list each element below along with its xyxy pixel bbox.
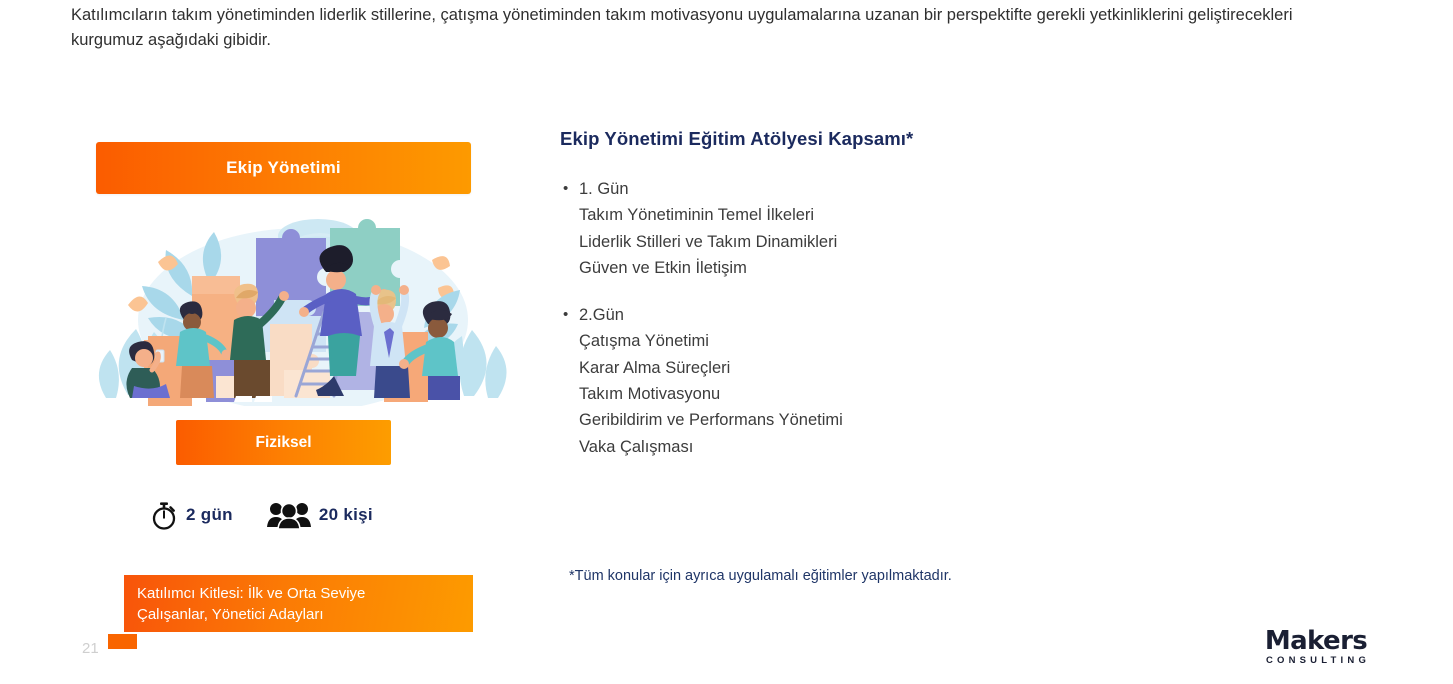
bullet-group-day2: • 2.Gün Çatışma Yönetimi Karar Alma Süre… [560, 302, 1260, 460]
bullet-marker: • [560, 302, 579, 460]
audience-line-1: Katılımcı Kitlesi: İlk ve Orta Seviye [137, 585, 365, 602]
bullet-item: Takım Yönetiminin Temel İlkeleri [579, 202, 1260, 228]
meta-duration-label: 2 gün [186, 505, 233, 525]
training-card: Ekip Yönetimi [85, 130, 515, 480]
logo-tagline-text: CONSULTING [1241, 655, 1391, 666]
bullet-item: Geribildirim ve Performans Yönetimi [579, 407, 1260, 433]
orange-corner-mark [108, 634, 137, 649]
card-title-label: Ekip Yönetimi [226, 158, 341, 178]
page-number: 21 [82, 640, 99, 657]
makers-consulting-logo: Makers CONSULTING [1241, 628, 1391, 666]
scope-section: Ekip Yönetimi Eğitim Atölyesi Kapsamı* •… [560, 128, 1260, 481]
scope-footnote: *Tüm konular için ayrıca uygulamalı eğit… [569, 568, 952, 584]
bullet-title: 1. Gün [579, 176, 1260, 202]
card-meta-row: 2 gün 20 kişi [150, 500, 373, 530]
people-group-icon [267, 501, 311, 529]
bullet-item: Liderlik Stilleri ve Takım Dinamikleri [579, 229, 1260, 255]
audience-box: Katılımcı Kitlesi: İlk ve Orta Seviye Ça… [124, 575, 473, 632]
scope-heading: Ekip Yönetimi Eğitim Atölyesi Kapsamı* [560, 128, 1260, 150]
bullet-marker: • [560, 176, 579, 281]
card-format-bar: Fiziksel [176, 420, 391, 465]
bullet-title: 2.Gün [579, 302, 1260, 328]
intro-paragraph: Katılımcıların takım yönetiminden liderl… [71, 3, 1361, 53]
card-format-label: Fiziksel [256, 434, 312, 452]
bullet-lines-day1: 1. Gün Takım Yönetiminin Temel İlkeleri … [579, 176, 1260, 281]
logo-brand-text: Makers [1241, 628, 1391, 654]
audience-line-2: Çalışanlar, Yönetici Adayları [137, 606, 324, 623]
bullet-lines-day2: 2.Gün Çatışma Yönetimi Karar Alma Süreçl… [579, 302, 1260, 460]
bullet-item: Çatışma Yönetimi [579, 328, 1260, 354]
bullet-group-day1: • 1. Gün Takım Yönetiminin Temel İlkeler… [560, 176, 1260, 281]
stopwatch-icon [150, 500, 178, 530]
card-title-bar: Ekip Yönetimi [96, 142, 471, 194]
bullet-item: Karar Alma Süreçleri [579, 355, 1260, 381]
meta-duration: 2 gün [150, 500, 233, 530]
teamwork-puzzle-illustration [88, 200, 515, 406]
meta-capacity-label: 20 kişi [319, 505, 373, 525]
bullet-item: Vaka Çalışması [579, 434, 1260, 460]
bullet-item: Güven ve Etkin İletişim [579, 255, 1260, 281]
bullet-item: Takım Motivasyonu [579, 381, 1260, 407]
meta-capacity: 20 kişi [267, 501, 373, 529]
